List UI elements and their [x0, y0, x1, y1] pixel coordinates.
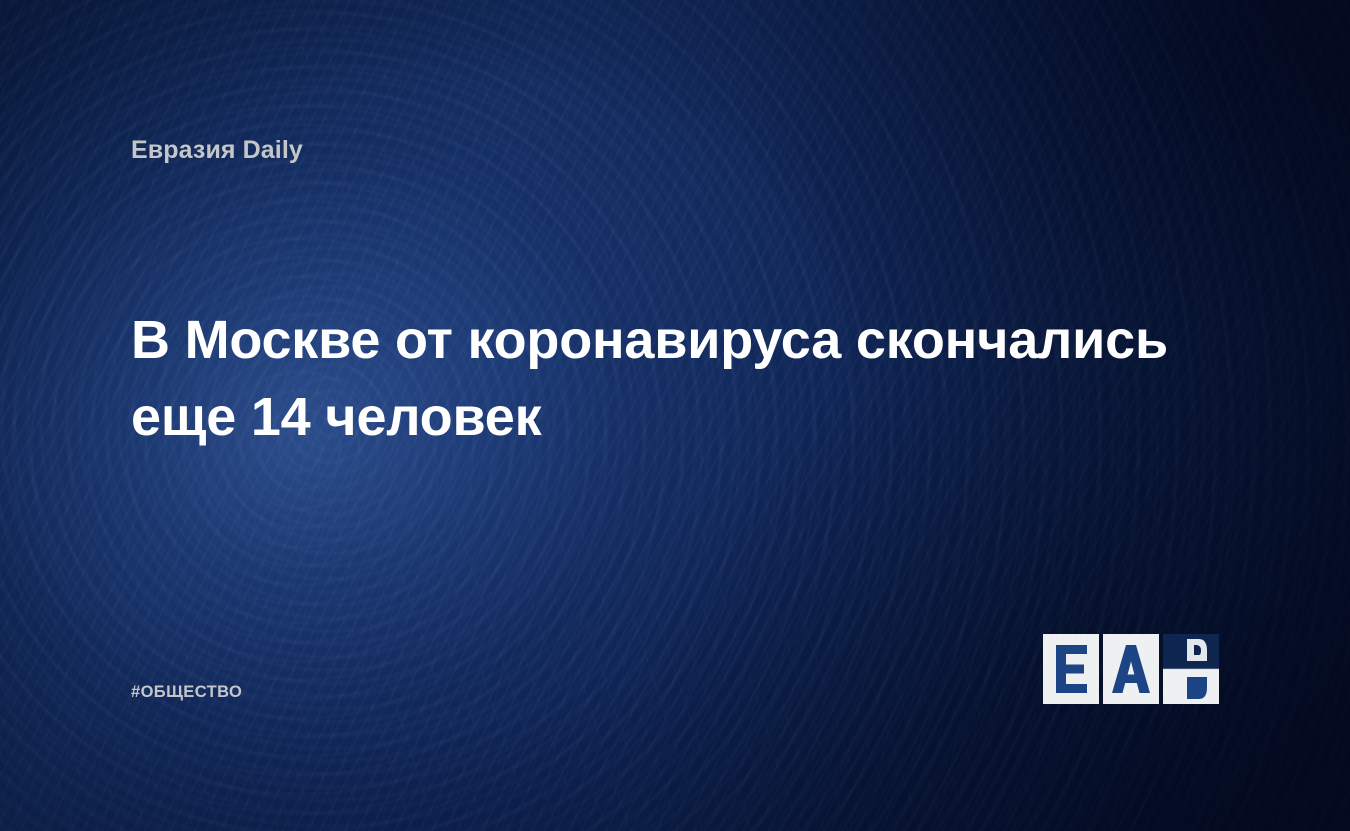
- letter-a-icon: [1103, 634, 1159, 704]
- category-tag: #ОБЩЕСТВО: [131, 683, 242, 702]
- share-card: Евразия Daily В Москве от коронавируса с…: [0, 0, 1350, 831]
- card-content: Евразия Daily В Москве от коронавируса с…: [0, 0, 1350, 831]
- page-title: В Москве от коронавируса скончались еще …: [131, 302, 1191, 456]
- logo-tile-e: [1043, 634, 1099, 704]
- logo-tile-a: [1103, 634, 1159, 704]
- eadaily-logo: [1043, 634, 1219, 704]
- letter-e-icon: [1043, 634, 1099, 704]
- logo-tile-d: [1163, 634, 1219, 704]
- site-name: Евразия Daily: [131, 136, 303, 165]
- letter-d-icon: [1163, 634, 1219, 704]
